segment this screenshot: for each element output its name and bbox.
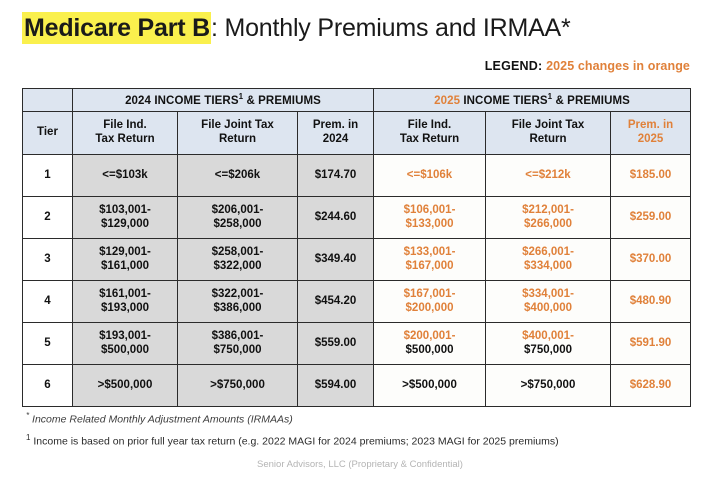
cell-joint-2025: $400,001-$750,000 [486,323,611,365]
cell-joint-2025-line1: $334,001- [486,288,610,302]
cell-tier-value: 2 [44,211,50,223]
group-header-2025-tail: & PREMIUMS [552,95,630,107]
cell-prem-2024: $349.40 [298,239,374,281]
column-header-ind-2025: File Ind. Tax Return [374,112,486,155]
cell-ind-2025-line2: $167,000 [374,260,485,274]
cell-tier: 3 [23,239,73,281]
cell-ind-2025-line2: $200,000 [374,302,485,316]
cell-joint-2024: $386,001-$750,000 [178,323,298,365]
cell-joint-2024: $322,001-$386,000 [178,281,298,323]
column-header-joint-2025-line1: File Joint Tax [486,119,610,133]
cell-prem-2025: $480.90 [611,281,691,323]
cell-ind-2024-line2: $129,000 [73,218,177,232]
group-header-2025-year: 2025 [434,95,460,107]
cell-prem-2025: $591.90 [611,323,691,365]
cell-ind-2024-line2: $500,000 [73,344,177,358]
cell-prem-2025: $628.90 [611,365,691,407]
cell-tier: 1 [23,155,73,197]
table-row: 3$129,001-$161,000$258,001-$322,000$349.… [23,239,691,281]
legend: LEGEND: 2025 changes in orange [485,60,690,73]
cell-prem-2025-value: $370.00 [630,253,672,265]
cell-joint-2025: $266,001-$334,000 [486,239,611,281]
footnotes: * Income Related Monthly Adjustment Amou… [26,411,686,447]
cell-ind-2025: <=$106k [374,155,486,197]
cell-joint-2024-line2: $386,000 [178,302,297,316]
cell-joint-2025-line1: >$750,000 [486,379,610,393]
cell-tier-value: 4 [44,295,50,307]
cell-prem-2025-value: $185.00 [630,169,672,181]
cell-tier: 6 [23,365,73,407]
cell-joint-2025-line1: $212,001- [486,204,610,218]
table-row: 5$193,001-$500,000$386,001-$750,000$559.… [23,323,691,365]
footnote-asterisk-text: Income Related Monthly Adjustment Amount… [29,414,293,426]
column-header-prem-2025-line1: Prem. in [611,119,690,133]
cell-tier-value: 6 [44,379,50,391]
cell-ind-2024-line1: <=$103k [73,169,177,183]
cell-tier-value: 1 [44,169,50,181]
column-header-prem-2024: Prem. in 2024 [298,112,374,155]
cell-joint-2025-line2: $266,000 [486,218,610,232]
corner-blank-cell [23,89,73,112]
cell-ind-2024-line1: >$500,000 [73,379,177,393]
cell-ind-2025-line1: $133,001- [374,246,485,260]
cell-prem-2025: $370.00 [611,239,691,281]
page-title-rest: : Monthly Premiums and IRMAA* [211,14,571,42]
footnote-asterisk: * Income Related Monthly Adjustment Amou… [26,411,686,426]
table-group-header-row: 2024 INCOME TIERS1 & PREMIUMS 2025 INCOM… [23,89,691,112]
cell-joint-2025-line1: $400,001- [486,330,610,344]
cell-ind-2024: $103,001-$129,000 [73,197,178,239]
cell-ind-2024: <=$103k [73,155,178,197]
cell-prem-2024: $594.00 [298,365,374,407]
page-title-highlight: Medicare Part B [22,12,211,44]
cell-tier-value: 3 [44,253,50,265]
cell-prem-2024: $174.70 [298,155,374,197]
column-header-ind-2024-line1: File Ind. [73,119,177,133]
irmaa-table-container: 2024 INCOME TIERS1 & PREMIUMS 2025 INCOM… [22,88,690,407]
cell-joint-2024-line1: $206,001- [178,204,297,218]
column-header-tier: Tier [23,112,73,155]
legend-separator: : [538,59,546,73]
cell-ind-2025-line2: $133,000 [374,218,485,232]
cell-prem-2024: $454.20 [298,281,374,323]
cell-joint-2025-line1: $266,001- [486,246,610,260]
cell-ind-2024: $193,001-$500,000 [73,323,178,365]
footnote-one: 1 Income is based on prior full year tax… [26,433,686,448]
cell-ind-2024-line1: $193,001- [73,330,177,344]
cell-ind-2025-line1: $106,001- [374,204,485,218]
cell-joint-2025: >$750,000 [486,365,611,407]
group-header-2025: 2025 INCOME TIERS1 & PREMIUMS [374,89,691,112]
cell-ind-2025: >$500,000 [374,365,486,407]
legend-note: 2025 changes in orange [546,59,690,73]
cell-ind-2025: $200,001-$500,000 [374,323,486,365]
table-row: 1<=$103k<=$206k$174.70<=$106k<=$212k$185… [23,155,691,197]
cell-ind-2024: $161,001-$193,000 [73,281,178,323]
cell-tier: 4 [23,281,73,323]
cell-ind-2025: $167,001-$200,000 [374,281,486,323]
cell-ind-2025-line2: $500,000 [374,344,485,358]
cell-prem-2024-value: $559.00 [315,337,357,349]
column-header-prem-2024-line1: Prem. in [298,119,373,133]
cell-ind-2025: $106,001-$133,000 [374,197,486,239]
cell-tier: 5 [23,323,73,365]
cell-ind-2025-line1: $200,001- [374,330,485,344]
group-header-2024-year: 2024 [125,95,151,107]
cell-ind-2024-line1: $129,001- [73,246,177,260]
cell-prem-2024-value: $244.60 [315,211,357,223]
column-header-prem-2024-line2: 2024 [298,133,373,147]
cell-prem-2024: $559.00 [298,323,374,365]
irmaa-table: 2024 INCOME TIERS1 & PREMIUMS 2025 INCOM… [22,88,691,407]
cell-joint-2024-line1: $322,001- [178,288,297,302]
cell-joint-2024: $258,001-$322,000 [178,239,298,281]
cell-prem-2025-value: $628.90 [630,379,672,391]
column-header-joint-2024-line2: Return [178,133,297,147]
group-header-2024-tail: & PREMIUMS [243,95,321,107]
footnote-one-text: Income is based on prior full year tax r… [30,435,558,447]
column-header-prem-2025: Prem. in 2025 [611,112,691,155]
cell-joint-2025-line2: $334,000 [486,260,610,274]
cell-prem-2025-value: $259.00 [630,211,672,223]
page-title: Medicare Part B: Monthly Premiums and IR… [22,16,571,41]
column-header-ind-2025-line1: File Ind. [374,119,485,133]
cell-prem-2025: $185.00 [611,155,691,197]
table-row: 4$161,001-$193,000$322,001-$386,000$454.… [23,281,691,323]
group-header-2024: 2024 INCOME TIERS1 & PREMIUMS [73,89,374,112]
cell-joint-2025: <=$212k [486,155,611,197]
cell-ind-2024-line1: $103,001- [73,204,177,218]
cell-joint-2025-line2: $400,000 [486,302,610,316]
cell-joint-2025: $334,001-$400,000 [486,281,611,323]
column-header-ind-2024: File Ind. Tax Return [73,112,178,155]
cell-joint-2024-line2: $322,000 [178,260,297,274]
cell-prem-2024: $244.60 [298,197,374,239]
column-header-ind-2024-line2: Tax Return [73,133,177,147]
cell-prem-2024-value: $349.40 [315,253,357,265]
column-header-joint-2025-line2: Return [486,133,610,147]
cell-joint-2024-line2: $750,000 [178,344,297,358]
cell-joint-2024: >$750,000 [178,365,298,407]
cell-ind-2025-line1: >$500,000 [374,379,485,393]
cell-joint-2024-line2: $258,000 [178,218,297,232]
column-header-joint-2024: File Joint Tax Return [178,112,298,155]
cell-joint-2024-line1: >$750,000 [178,379,297,393]
cell-joint-2024-line1: <=$206k [178,169,297,183]
cell-joint-2025-line2: $750,000 [486,344,610,358]
cell-joint-2024-line1: $386,001- [178,330,297,344]
table-row: 6>$500,000>$750,000$594.00>$500,000>$750… [23,365,691,407]
cell-prem-2025: $259.00 [611,197,691,239]
table-row: 2$103,001-$129,000$206,001-$258,000$244.… [23,197,691,239]
group-header-2025-rest: INCOME TIERS [460,95,548,107]
cell-ind-2025: $133,001-$167,000 [374,239,486,281]
cell-ind-2024-line2: $193,000 [73,302,177,316]
table-column-header-row: Tier File Ind. Tax Return File Joint Tax… [23,112,691,155]
cell-prem-2024-value: $174.70 [315,169,357,181]
cell-joint-2024: $206,001-$258,000 [178,197,298,239]
column-header-ind-2025-line2: Tax Return [374,133,485,147]
table-header: 2024 INCOME TIERS1 & PREMIUMS 2025 INCOM… [23,89,691,155]
group-header-2024-rest: INCOME TIERS [151,95,239,107]
cell-joint-2025-line1: <=$212k [486,169,610,183]
cell-prem-2024-value: $454.20 [315,295,357,307]
cell-joint-2025: $212,001-$266,000 [486,197,611,239]
column-header-joint-2024-line1: File Joint Tax [178,119,297,133]
cell-ind-2025-line1: $167,001- [374,288,485,302]
column-header-prem-2025-line2: 2025 [611,133,690,147]
cell-tier-value: 5 [44,337,50,349]
cell-ind-2025-line1: <=$106k [374,169,485,183]
cell-tier: 2 [23,197,73,239]
cell-ind-2024-line2: $161,000 [73,260,177,274]
cell-ind-2024: >$500,000 [73,365,178,407]
cell-prem-2025-value: $480.90 [630,295,672,307]
table-body: 1<=$103k<=$206k$174.70<=$106k<=$212k$185… [23,155,691,407]
cell-prem-2025-value: $591.90 [630,337,672,349]
legend-label: LEGEND [485,59,538,73]
cell-ind-2024-line1: $161,001- [73,288,177,302]
footer-credit: Senior Advisors, LLC (Proprietary & Conf… [0,459,720,470]
column-header-joint-2025: File Joint Tax Return [486,112,611,155]
cell-ind-2024: $129,001-$161,000 [73,239,178,281]
cell-joint-2024-line1: $258,001- [178,246,297,260]
cell-joint-2024: <=$206k [178,155,298,197]
cell-prem-2024-value: $594.00 [315,379,357,391]
